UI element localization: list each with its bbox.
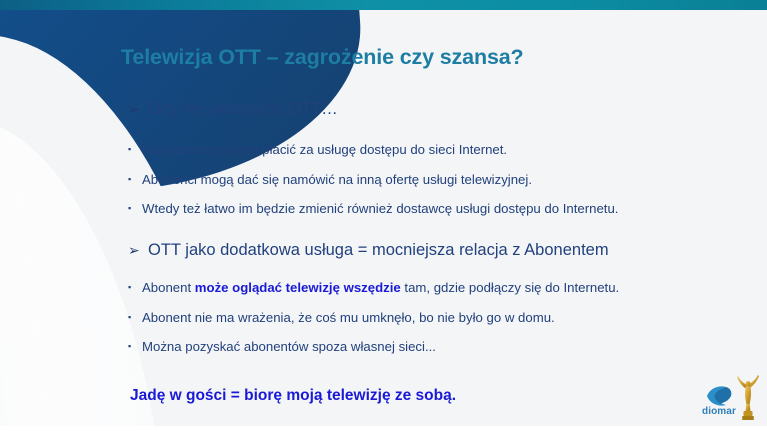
logo-statue-icon	[734, 373, 762, 421]
list-item: ▪Abonenci mogą dać się namówić na inną o…	[128, 172, 758, 187]
section-heading-2: ➢OTT jako dodatkowa usługa = mocniejsza …	[128, 241, 748, 260]
list-item-text: Wtedy też łatwo im będzie zmienić równie…	[142, 201, 618, 216]
section-heading-1-label: Gdy nie wdrożymy OTT…	[148, 100, 338, 118]
diomar-logo: diomar	[702, 373, 764, 425]
closing-statement: Jadę w gości = biorę moją telewizję ze s…	[130, 387, 456, 405]
square-bullet-icon: ▪	[128, 341, 142, 351]
logo-wordmark: diomar	[702, 406, 736, 417]
square-bullet-icon: ▪	[128, 282, 142, 292]
section-heading-1: ➢Gdy nie wdrożymy OTT…	[128, 100, 748, 119]
arrow-bullet-icon: ➢	[128, 242, 148, 259]
list-item: ▪Nasi abonenci będą płacić za usługę dos…	[128, 142, 758, 157]
logo-swoosh-icon	[706, 385, 732, 407]
list-item-text: Można pozyskać abonentów spoza własnej s…	[142, 339, 436, 354]
list-item: ▪Można pozyskać abonentów spoza własnej …	[128, 339, 758, 354]
list-item-lead-text: Abonent	[142, 280, 195, 295]
list-item-highlighted: ▪Abonent może oglądać telewizję wszędzie…	[128, 280, 758, 295]
list-item-emphasis-text: może oglądać telewizję wszędzie	[195, 280, 401, 295]
list-item-text: Abonent nie ma wrażenia, że coś mu umknę…	[142, 310, 555, 325]
square-bullet-icon: ▪	[128, 144, 142, 154]
list-item-text: Nasi abonenci będą płacić za usługę dost…	[142, 142, 507, 157]
section-heading-2-label: OTT jako dodatkowa usługa = mocniejsza r…	[148, 241, 609, 259]
slide-content: Telewizja OTT – zagrożenie czy szansa? ➢…	[0, 0, 767, 431]
list-item: ▪Wtedy też łatwo im będzie zmienić równi…	[128, 201, 758, 216]
square-bullet-icon: ▪	[128, 174, 142, 184]
presentation-slide: Telewizja OTT – zagrożenie czy szansa? ➢…	[0, 0, 767, 431]
list-item-tail-text: tam, gdzie podłączy się do Internetu.	[401, 280, 619, 295]
list-item: ▪Abonent nie ma wrażenia, że coś mu umkn…	[128, 310, 758, 325]
square-bullet-icon: ▪	[128, 312, 142, 322]
arrow-bullet-icon: ➢	[128, 101, 148, 118]
slide-title: Telewizja OTT – zagrożenie czy szansa?	[121, 45, 721, 70]
list-item-text: Abonenci mogą dać się namówić na inną of…	[142, 172, 532, 187]
square-bullet-icon: ▪	[128, 203, 142, 213]
